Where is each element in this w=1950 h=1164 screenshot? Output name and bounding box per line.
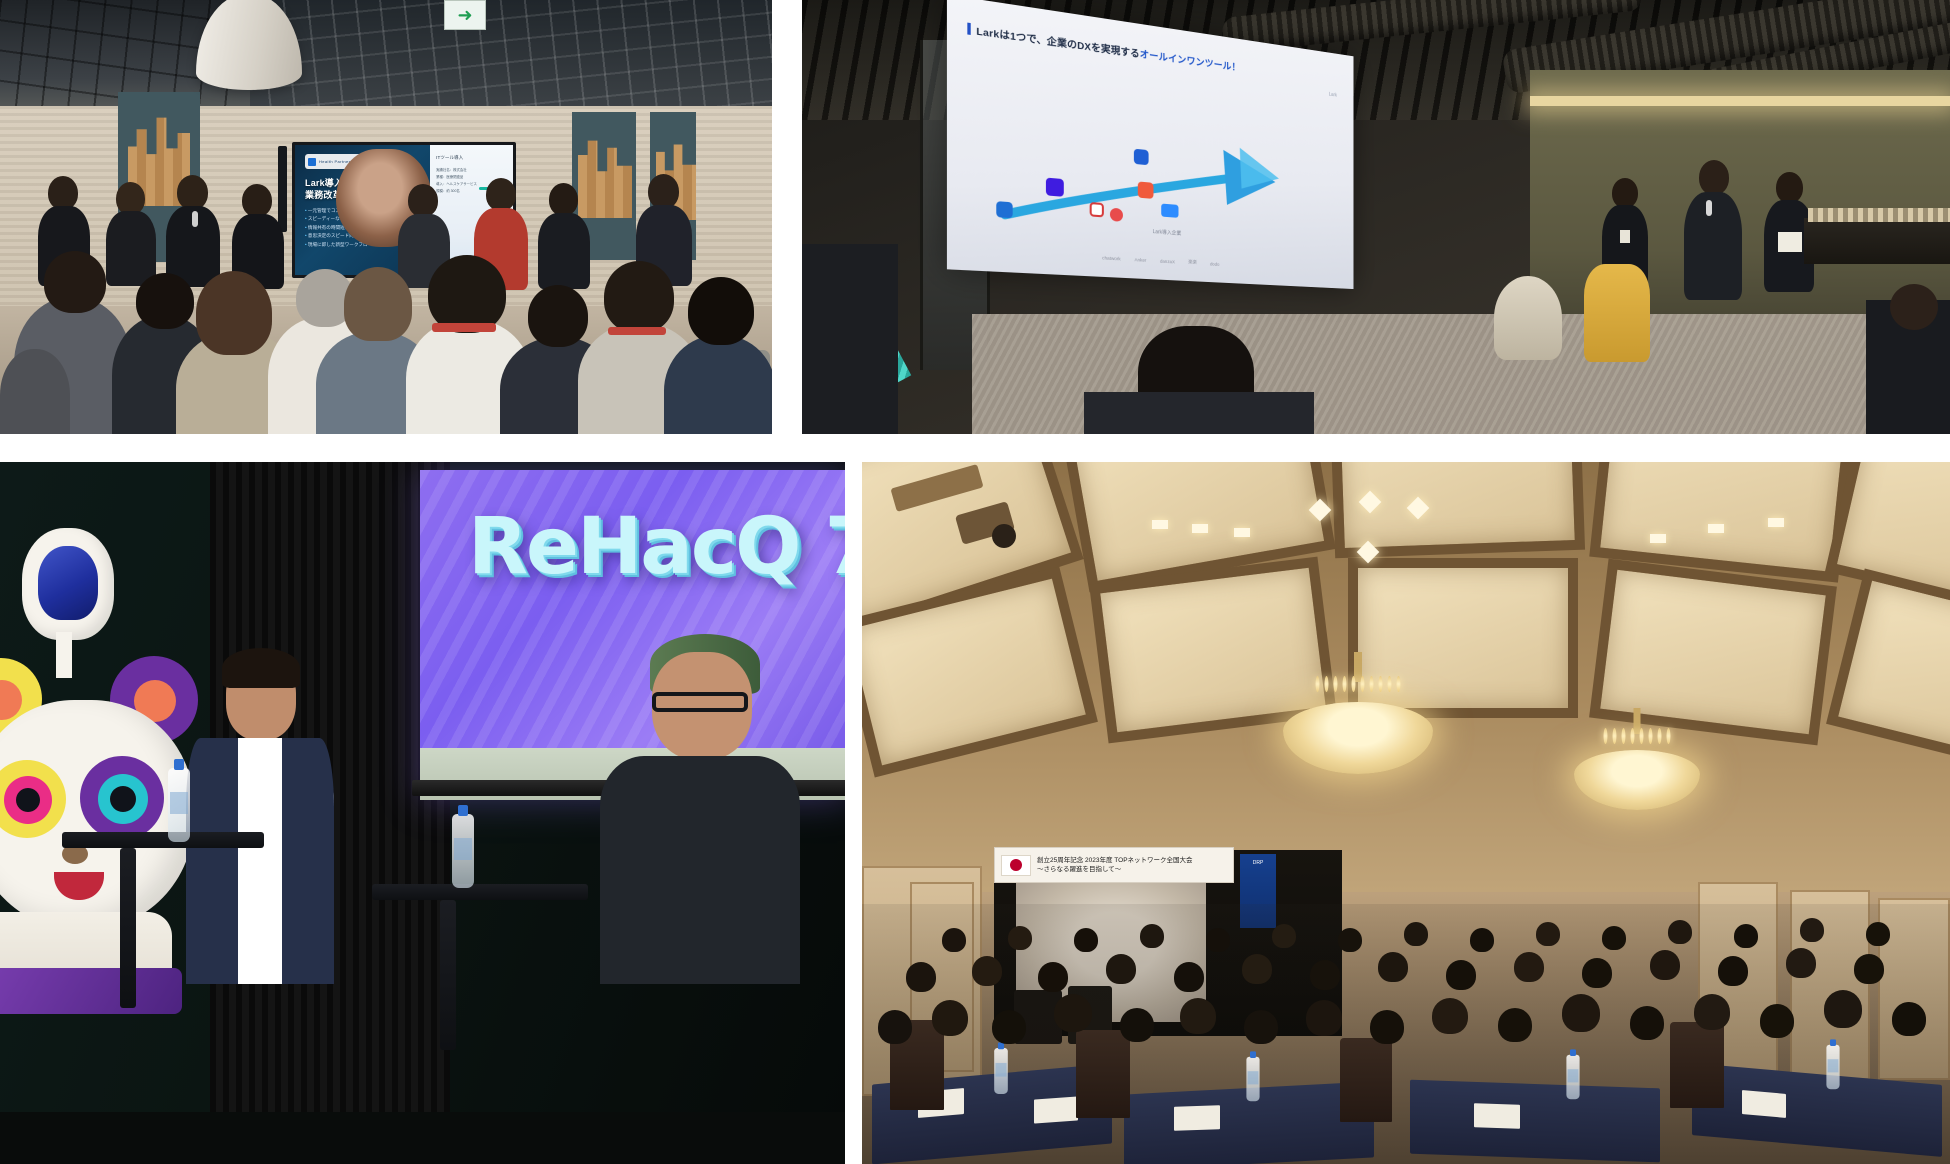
audience-head-ponytail	[196, 271, 272, 355]
customer-logo-row: chatwork Anker danzaX 楽楽 dodo	[992, 248, 1312, 272]
attendee-head	[1582, 958, 1612, 988]
foreground-head-right	[1890, 284, 1938, 330]
chandelier-candle	[1352, 676, 1356, 692]
table-water-bottle	[1246, 1057, 1259, 1101]
attendee-head	[1370, 1010, 1404, 1044]
panelist-head	[549, 183, 578, 216]
photo-top-left-panel-discussion: ➜ Health Partners Lark導入による 業務改革と効率化 一元管…	[0, 0, 772, 434]
side-table-left-leg	[120, 848, 136, 1008]
attendee-head	[1854, 954, 1884, 984]
customer-logo: Anker	[1135, 257, 1147, 263]
panelist-head	[648, 174, 679, 209]
main-speaker	[1684, 160, 1742, 300]
attendee-head	[1306, 1000, 1342, 1036]
attendee-head	[1866, 922, 1890, 946]
mascot-eye-right-pupil	[110, 786, 136, 812]
attendee-head	[1054, 994, 1092, 1032]
audience-head	[688, 277, 754, 345]
attendee-head	[1800, 918, 1824, 942]
chandelier-candle	[1334, 676, 1338, 692]
chandelier-arms	[1316, 676, 1401, 692]
rehacq-logo-text: ReHacQ 7エ	[468, 484, 845, 596]
guest-jacket-right	[282, 738, 334, 984]
attendee-head	[1694, 994, 1730, 1030]
chandelier-candle	[1343, 676, 1347, 692]
attendee-head	[878, 1010, 912, 1044]
audience-member	[664, 335, 772, 434]
tool-icon-asana	[1110, 208, 1123, 222]
eyeglasses-icon	[652, 692, 748, 712]
attendee-head	[1106, 954, 1136, 984]
tool-icon-chatwork	[996, 201, 1012, 218]
attendee-head	[1446, 960, 1476, 990]
attendee-head	[1650, 950, 1680, 980]
attendee-head	[1206, 928, 1230, 952]
attendee-head	[1470, 928, 1494, 952]
speaker-body	[1684, 192, 1742, 300]
photo-bottom-right-ballroom: 創立25周年記念 2023年度 TOPネットワーク全国大会 ～さらなる躍進を目指…	[862, 462, 1950, 1164]
foreground-attendee-shoulders	[1084, 392, 1314, 434]
water-bottle-right	[452, 814, 474, 888]
audience-head	[44, 251, 106, 313]
chandelier-candle	[1325, 676, 1329, 692]
attendee-head	[1038, 962, 1068, 992]
chandelier-arms	[1604, 728, 1671, 744]
photo-top-right-lark-presentation: Larkは1つで、企業のDXを実現するオールインワンツール！ Lark La	[802, 0, 1950, 434]
audience-member	[0, 349, 70, 434]
attendee-head	[1760, 1004, 1794, 1038]
attendee-head	[1536, 922, 1560, 946]
foreground-attendee-left	[802, 244, 898, 434]
panelist-head	[486, 178, 516, 211]
chandelier-secondary	[1552, 708, 1722, 818]
lounge-chair-white	[1494, 276, 1562, 360]
attendee-head	[992, 1010, 1026, 1044]
guest-hair	[222, 648, 300, 688]
guest-jacket	[600, 756, 800, 984]
speaker-head	[1699, 160, 1729, 195]
attendee-head	[1120, 1008, 1154, 1042]
side-panel-line: 業種：医療関連品	[436, 174, 477, 181]
chandelier-candle	[1658, 728, 1662, 744]
attendee-head	[1074, 928, 1098, 952]
chandelier-candle	[1640, 728, 1644, 744]
chandelier-candle	[1604, 728, 1608, 744]
downlight	[1234, 528, 1250, 537]
lanyard	[432, 323, 496, 332]
mascot-crest-stem	[56, 632, 72, 678]
attendee-head	[1630, 1006, 1664, 1040]
cove-light	[1530, 96, 1950, 106]
banquet-chair	[1340, 1038, 1392, 1122]
staff-head	[1612, 178, 1638, 208]
attendee-head	[1514, 952, 1544, 982]
projector-lens-icon	[992, 524, 1016, 548]
attendee-head	[942, 928, 966, 952]
exit-sign: ➜	[444, 0, 486, 30]
tool-icon-misc	[1138, 181, 1154, 198]
side-table-right-leg	[440, 900, 456, 1050]
customer-logo: danzaX	[1160, 258, 1175, 264]
chandelier-candle	[1379, 676, 1383, 692]
chandelier-bowl	[1283, 702, 1433, 774]
guest-jacket-left	[186, 738, 238, 984]
side-panel-line: 実績社名：株式会社	[436, 167, 477, 174]
table-water-bottle	[1826, 1045, 1839, 1089]
panelist-head	[177, 175, 208, 210]
downlight	[1152, 520, 1168, 529]
attendee-head	[972, 956, 1002, 986]
audience-head	[604, 261, 674, 333]
panelist-head	[48, 176, 78, 210]
photo-bottom-left-rehacq-stage: ReHacQ 7エ	[0, 462, 845, 1164]
tool-icon-zoom	[1161, 204, 1178, 218]
banner-line1: 創立25周年記念 2023年度 TOPネットワーク全国大会	[1037, 856, 1193, 865]
attendee-head	[1786, 948, 1816, 978]
customer-logo: dodo	[1210, 261, 1219, 266]
headline-prefix: Larkは1つで、企業のDXを実現する	[976, 26, 1139, 60]
handout-paper	[1778, 232, 1802, 252]
audience-rows	[0, 219, 772, 434]
attendee-head	[1272, 924, 1296, 948]
mascot-character	[0, 528, 192, 968]
audience-head	[428, 255, 506, 333]
attendee-head	[1180, 998, 1216, 1034]
table-water-bottle	[994, 1048, 1008, 1094]
attendee-head	[1668, 920, 1692, 944]
event-banner: 創立25周年記念 2023年度 TOPネットワーク全国大会 ～さらなる躍進を目指…	[994, 847, 1234, 883]
chandelier-candle	[1361, 676, 1365, 692]
mascot-costume-skirt	[0, 968, 182, 1014]
table-water-bottle	[1566, 1055, 1579, 1099]
back-table	[1804, 218, 1950, 264]
badge	[1620, 230, 1630, 243]
attendee-head	[1718, 956, 1748, 986]
headline-bar-icon	[967, 23, 970, 35]
chandelier-candle	[1397, 676, 1401, 692]
chandelier-candle	[1622, 728, 1626, 744]
chandelier-candle	[1613, 728, 1617, 744]
tool-icon-dropbox	[1134, 149, 1149, 166]
audience-head-ponytail	[344, 267, 412, 341]
headline-highlight: オールインワンツール！	[1140, 49, 1241, 74]
attendee-head	[1378, 952, 1408, 982]
lanyard	[608, 327, 666, 335]
customer-logo: 楽楽	[1188, 259, 1197, 265]
attendee-head	[1244, 1010, 1278, 1044]
chandelier-bowl	[1574, 750, 1700, 810]
panelist-head	[408, 184, 438, 217]
banquet-table	[1410, 1080, 1660, 1163]
attendee-head	[1602, 926, 1626, 950]
water-bottle-left	[168, 768, 190, 842]
microphone-icon	[1706, 200, 1712, 216]
downlight	[1708, 524, 1724, 533]
japan-flag-icon	[1001, 855, 1031, 876]
attendee-head	[1242, 954, 1272, 984]
chandelier-candle	[1667, 728, 1671, 744]
banquet-table	[1692, 1063, 1942, 1157]
attendee-head	[1562, 994, 1600, 1032]
banquet-chair	[1670, 1022, 1724, 1108]
banner-text: 創立25周年記念 2023年度 TOPネットワーク全国大会 ～さらなる躍進を目指…	[1037, 856, 1193, 875]
photo-collage: ➜ Health Partners Lark導入による 業務改革と効率化 一元管…	[0, 0, 1950, 1164]
audience-head	[136, 273, 194, 329]
side-table-left-top	[62, 832, 264, 848]
audience-area	[862, 904, 1950, 1164]
side-panel-title: ITツール導入	[436, 155, 463, 161]
staff-head	[1776, 172, 1803, 203]
attendee-head	[1892, 1002, 1926, 1036]
chandelier-main	[1258, 652, 1458, 782]
attendee-head	[1310, 960, 1340, 990]
tool-icon-doc	[1090, 202, 1104, 217]
panelist-head	[242, 184, 272, 217]
attendee-head	[1174, 962, 1204, 992]
downlight	[1192, 524, 1208, 533]
chandelier-candle	[1631, 728, 1635, 744]
downlight	[1768, 518, 1784, 527]
stage-floor	[0, 1112, 845, 1164]
mascot-gem-icon	[38, 546, 98, 620]
attendee-head	[1008, 926, 1032, 950]
tool-icon-slack	[1046, 178, 1064, 197]
mascot-eye-left-pupil	[16, 788, 40, 812]
banquet-chair	[1076, 1030, 1130, 1118]
table-document	[1742, 1090, 1786, 1118]
ceiling-coffer	[1826, 569, 1950, 780]
table-document	[1474, 1103, 1520, 1129]
product-display	[1808, 208, 1950, 222]
attendee-head	[906, 962, 936, 992]
chandelier-candle	[1316, 676, 1320, 692]
table-document	[1034, 1096, 1078, 1123]
chandelier-candle	[1370, 676, 1374, 692]
attendee-head	[932, 1000, 968, 1036]
downlight	[1650, 534, 1666, 543]
interview-guest-left	[186, 654, 334, 984]
customer-logo: chatwork	[1102, 255, 1120, 261]
chandelier-candle	[1388, 676, 1392, 692]
attendee-head	[1404, 922, 1428, 946]
attendee-head	[1432, 998, 1468, 1034]
table-document	[1174, 1105, 1220, 1131]
side-table-right-top	[372, 884, 588, 900]
attendee-head	[1140, 924, 1164, 948]
logo-mark-icon	[308, 158, 316, 166]
slide-brand: Lark	[1329, 92, 1337, 99]
lounge-chair-yellow	[1584, 264, 1650, 362]
chandelier-candle	[1649, 728, 1653, 744]
banner-line2: ～さらなる躍進を目指して～	[1037, 865, 1193, 874]
interview-guest-right	[600, 640, 800, 984]
exit-arrow-icon: ➜	[457, 6, 472, 24]
attendee-head	[1338, 928, 1362, 952]
attendee-head	[1824, 990, 1862, 1028]
attendee-head	[1498, 1008, 1532, 1042]
attendee-head	[1734, 924, 1758, 948]
audience-head	[528, 285, 588, 347]
